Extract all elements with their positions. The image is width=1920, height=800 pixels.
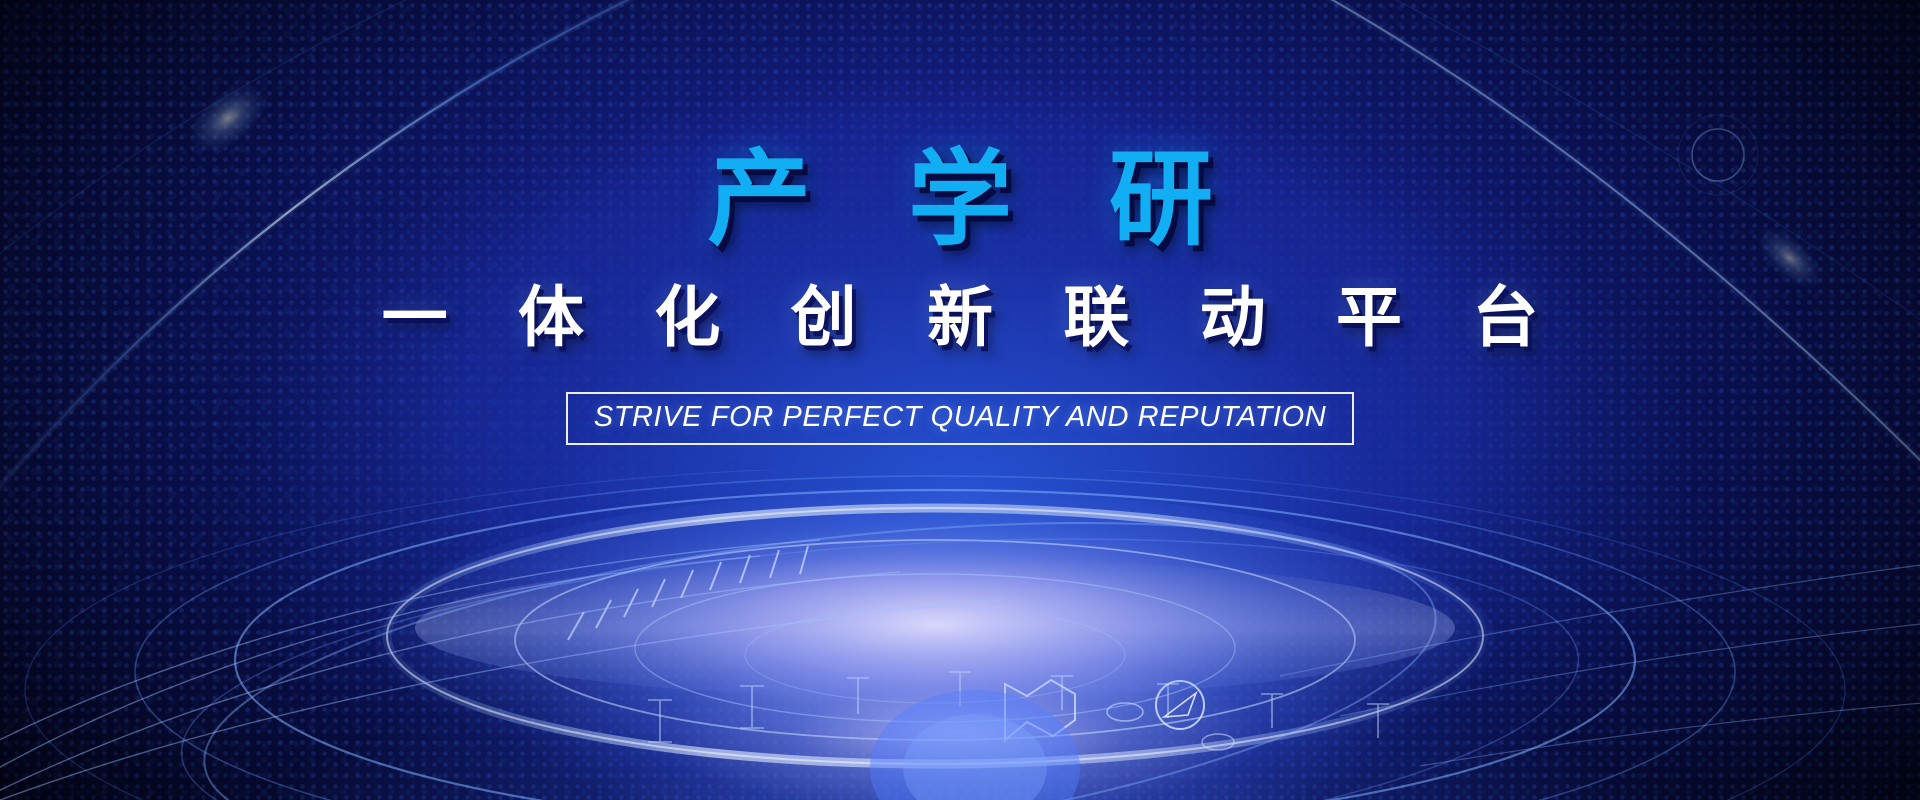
tagline-box: STRIVE FOR PERFECT QUALITY AND REPUTATIO… — [566, 392, 1355, 445]
banner-text-block: 产 学 研 一 体 化 创 新 联 动 平 台 STRIVE FOR PERFE… — [0, 0, 1920, 445]
page-subtitle: 一 体 化 创 新 联 动 平 台 — [0, 252, 1920, 350]
tagline-text: STRIVE FOR PERFECT QUALITY AND REPUTATIO… — [594, 403, 1327, 432]
hero-banner: 产 学 研 一 体 化 创 新 联 动 平 台 STRIVE FOR PERFE… — [0, 0, 1920, 800]
page-title: 产 学 研 — [0, 0, 1920, 252]
